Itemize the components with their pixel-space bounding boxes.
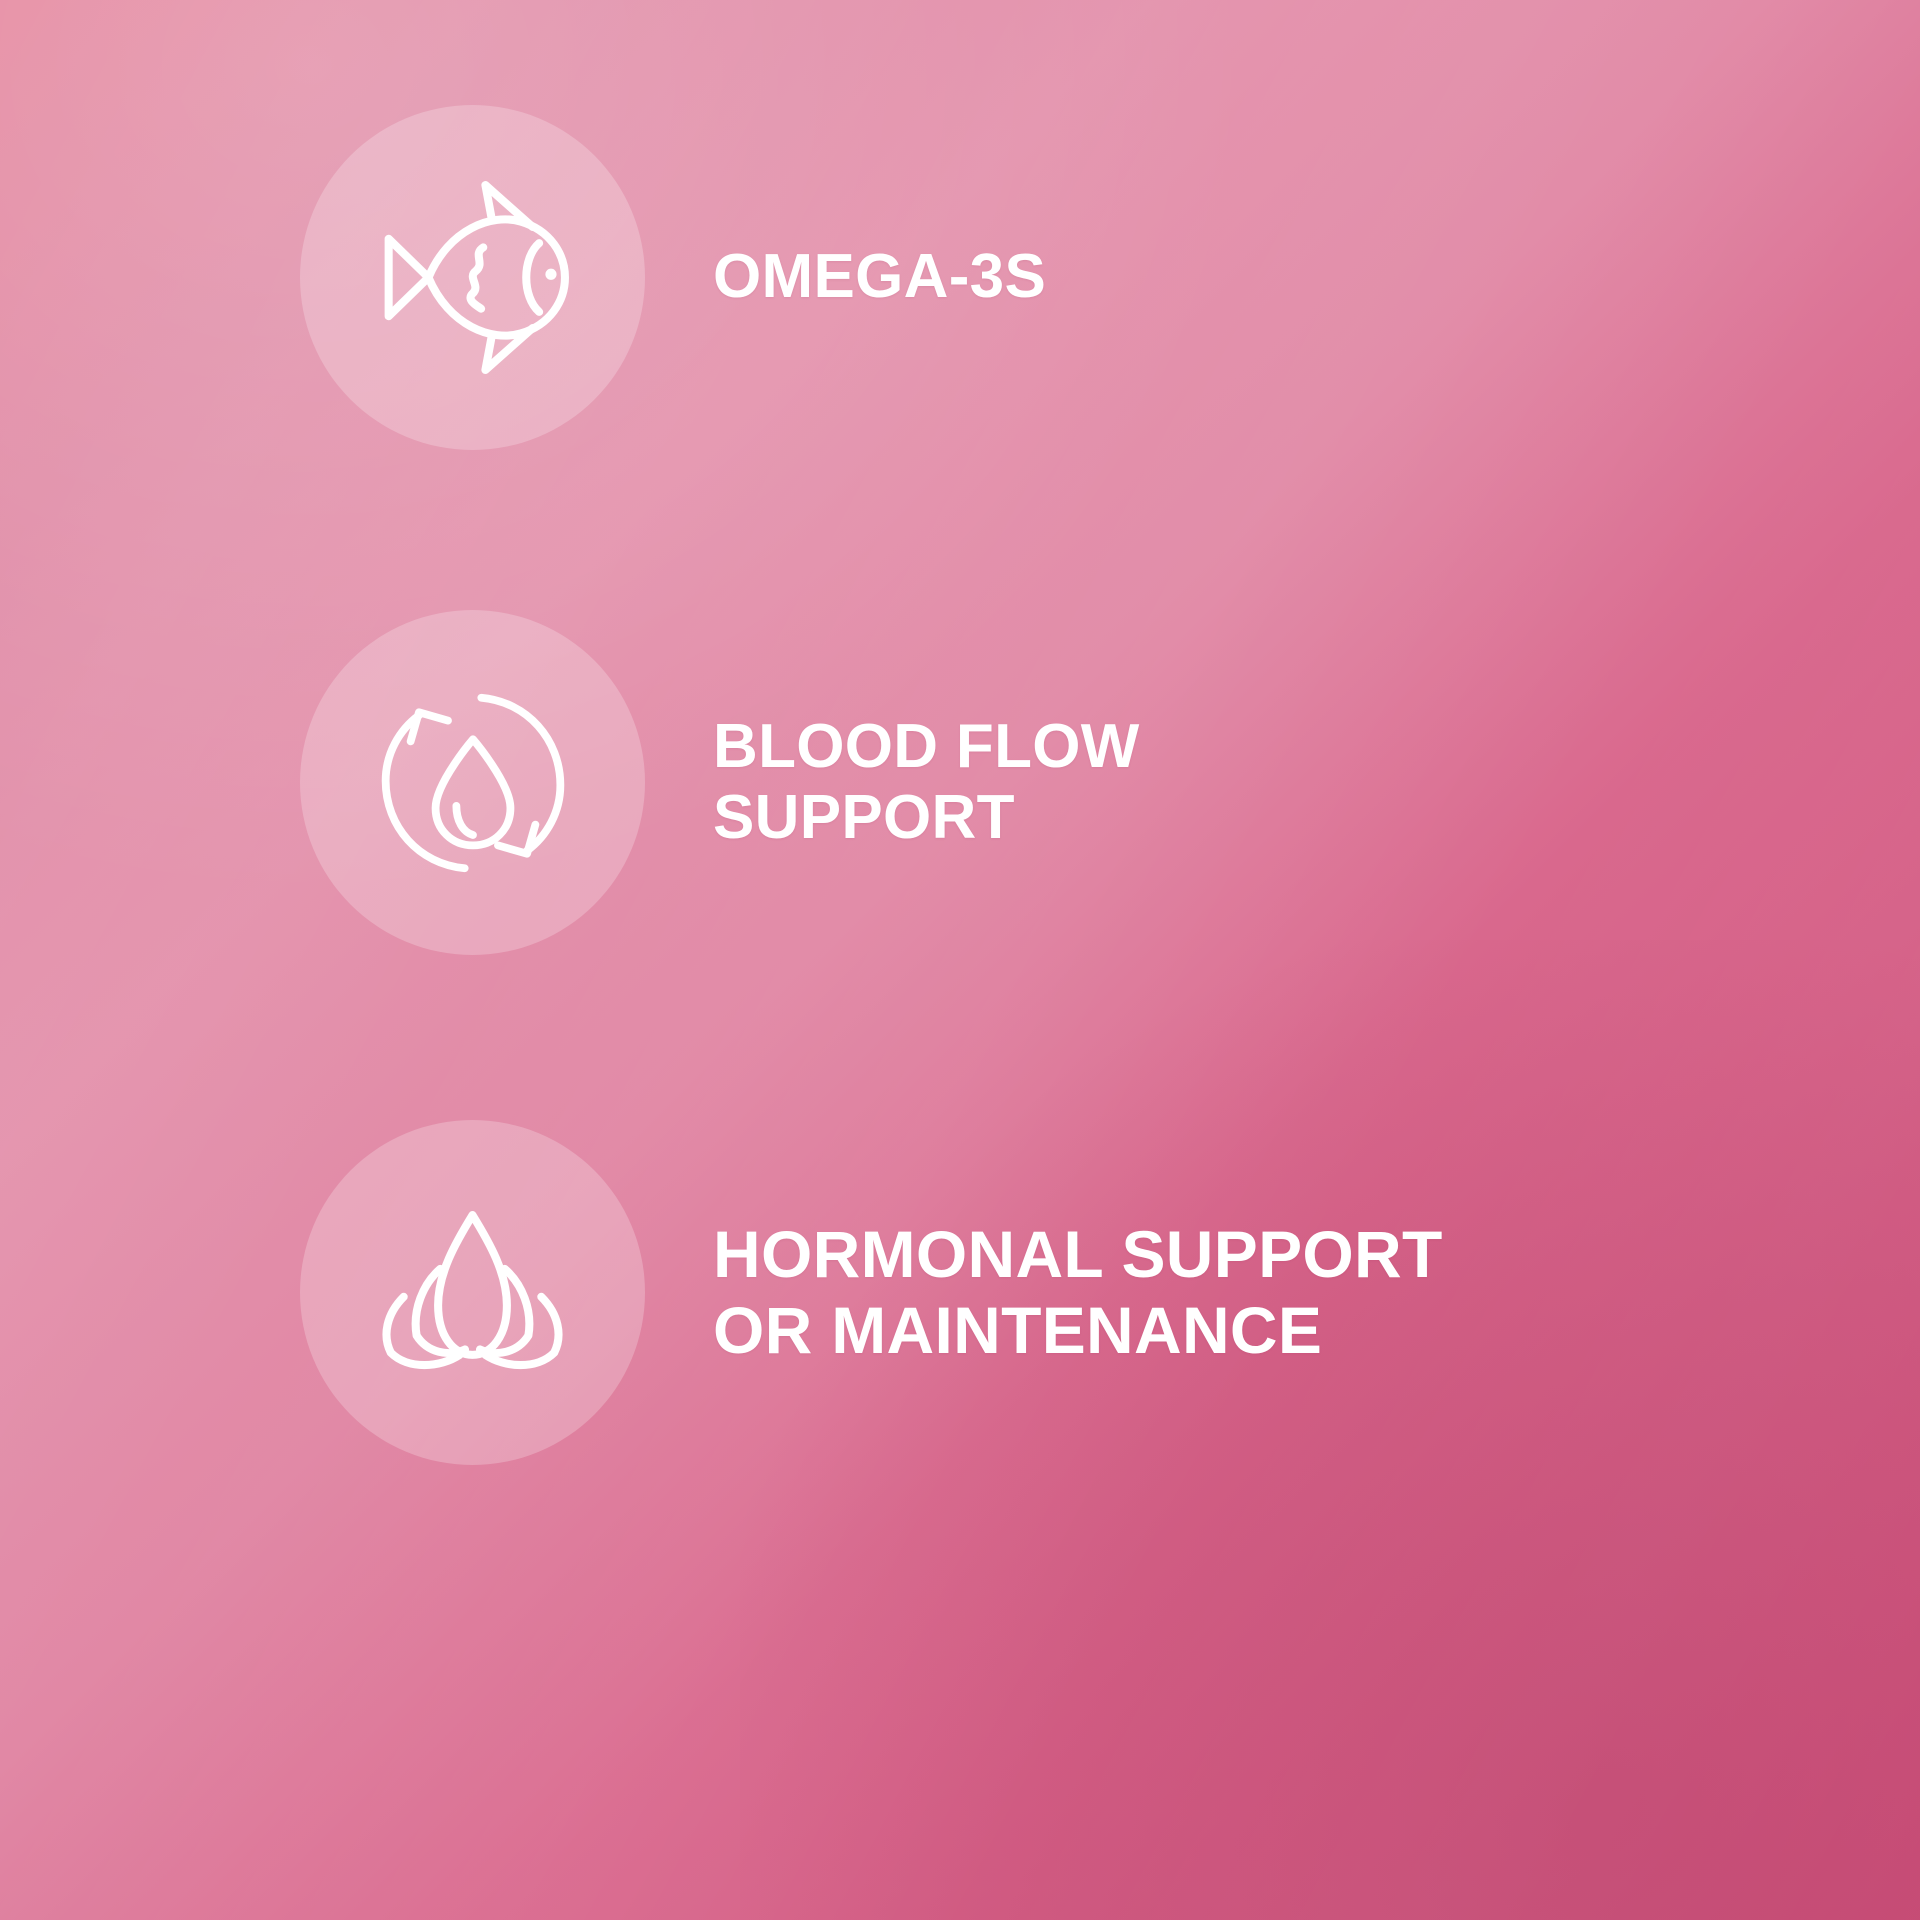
icon-circle-backdrop <box>300 105 645 450</box>
feature-benefits-poster: OMEGA-3S BLOOD FLOW SUPPORT <box>0 0 1920 1920</box>
icon-circle-backdrop <box>300 1120 645 1465</box>
feature-label: OMEGA-3S <box>713 242 1046 313</box>
icon-circle-backdrop <box>300 610 645 955</box>
feature-row: BLOOD FLOW SUPPORT <box>300 610 1140 955</box>
feature-row: HORMONAL SUPPORT OR MAINTENANCE <box>300 1120 1443 1465</box>
feature-row: OMEGA-3S <box>300 105 1046 450</box>
lotus-flower-icon <box>365 1185 580 1400</box>
blood-drop-cycle-icon <box>369 679 577 887</box>
fish-icon <box>365 170 580 385</box>
feature-label: HORMONAL SUPPORT OR MAINTENANCE <box>713 1217 1443 1367</box>
feature-label: BLOOD FLOW SUPPORT <box>713 712 1140 853</box>
